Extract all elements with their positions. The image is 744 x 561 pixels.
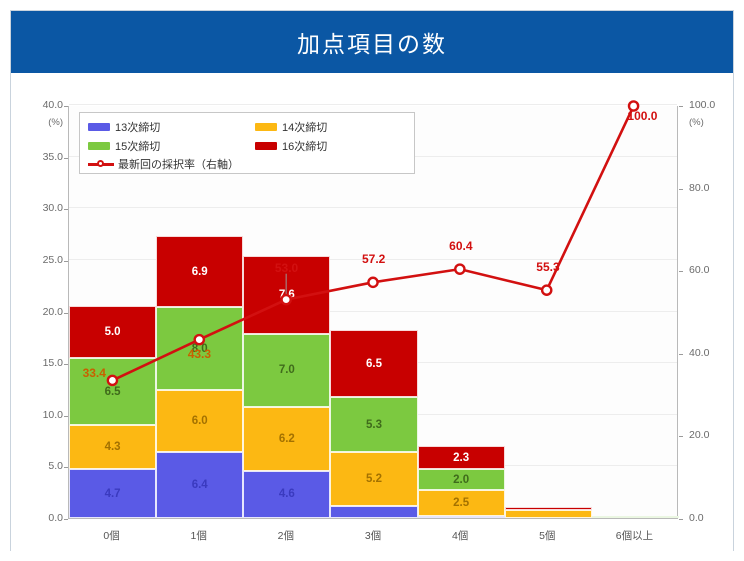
y2-axis-tick-label: 20.0 — [689, 429, 709, 441]
legend-label: 14次締切 — [282, 119, 327, 135]
legend-label: 15次締切 — [115, 138, 160, 154]
y2-axis-tick — [679, 436, 683, 437]
line-marker[interactable] — [195, 335, 204, 344]
x-axis-tick-label: 4個 — [417, 528, 504, 543]
legend-item[interactable]: 最新回の採択率（右軸） — [88, 156, 239, 172]
line-marker[interactable] — [282, 295, 291, 304]
y-axis-tick — [64, 519, 68, 520]
y2-axis-tick-label: 80.0 — [689, 182, 709, 194]
legend-line-marker-icon — [88, 159, 114, 169]
chart-card: 加点項目の数 0.05.010.015.020.025.030.035.040.… — [10, 10, 734, 551]
line-point-label: 100.0 — [627, 109, 657, 123]
line-marker[interactable] — [108, 376, 117, 385]
line-marker[interactable] — [542, 286, 551, 295]
legend-item[interactable]: 15次締切 — [88, 138, 160, 154]
legend-color-swatch — [88, 123, 110, 131]
y-axis-tick-label: 15.0 — [31, 357, 63, 369]
chart-legend: 13次締切14次締切15次締切16次締切最新回の採択率（右軸） — [79, 112, 415, 174]
y-axis-tick-label: 5.0 — [31, 460, 63, 472]
y2-axis-tick — [679, 519, 683, 520]
x-axis-tick-label: 3個 — [329, 528, 416, 543]
legend-color-swatch — [255, 142, 277, 150]
y2-axis-tick-label: 60.0 — [689, 264, 709, 276]
legend-item[interactable]: 14次締切 — [255, 119, 327, 135]
line-point-label: 55.3 — [536, 260, 559, 274]
right-axis-unit: (%) — [689, 117, 704, 128]
y-axis-tick-label: 35.0 — [31, 151, 63, 163]
chart-area: 0.05.010.015.020.025.030.035.040.0(%) 0.… — [11, 74, 733, 551]
legend-label: 13次締切 — [115, 119, 160, 135]
y-axis-tick-label: 0.0 — [31, 512, 63, 524]
left-axis-unit: (%) — [39, 117, 63, 128]
line-marker[interactable] — [368, 278, 377, 287]
x-axis-tick-label: 5個 — [504, 528, 591, 543]
y-axis-tick-label: 20.0 — [31, 306, 63, 318]
x-axis-tick-label: 6個以上 — [591, 528, 678, 543]
legend-label: 16次締切 — [282, 138, 327, 154]
title-bar: 加点項目の数 — [11, 11, 733, 73]
page-title: 加点項目の数 — [297, 25, 447, 59]
x-axis-tick-label: 0個 — [68, 528, 155, 543]
legend-label: 最新回の採択率（右軸） — [118, 156, 239, 172]
line-point-label: 43.3 — [188, 347, 211, 361]
legend-color-swatch — [88, 142, 110, 150]
y2-axis-tick — [679, 189, 683, 190]
y-axis-tick-label: 30.0 — [31, 202, 63, 214]
legend-item[interactable]: 16次締切 — [255, 138, 327, 154]
line-point-label: 57.2 — [362, 252, 385, 266]
line-point-label: 53.0 — [275, 261, 298, 275]
gridline — [69, 104, 677, 105]
line-marker[interactable] — [455, 265, 464, 274]
legend-color-swatch — [255, 123, 277, 131]
y-axis-tick-label: 10.0 — [31, 409, 63, 421]
y2-axis-tick — [679, 271, 683, 272]
y-axis-tick-label: 40.0 — [31, 99, 63, 111]
x-axis-tick-label: 2個 — [242, 528, 329, 543]
line-point-label: 33.4 — [83, 366, 106, 380]
y-axis-tick-label: 25.0 — [31, 254, 63, 266]
y2-axis-tick — [679, 354, 683, 355]
line-point-label: 60.4 — [449, 239, 472, 253]
legend-item[interactable]: 13次締切 — [88, 119, 160, 135]
y2-axis-tick — [679, 106, 683, 107]
y2-axis-tick-label: 40.0 — [689, 347, 709, 359]
y2-axis-tick-label: 0.0 — [689, 512, 704, 524]
x-axis-tick-label: 1個 — [155, 528, 242, 543]
y2-axis-tick-label: 100.0 — [689, 99, 715, 111]
